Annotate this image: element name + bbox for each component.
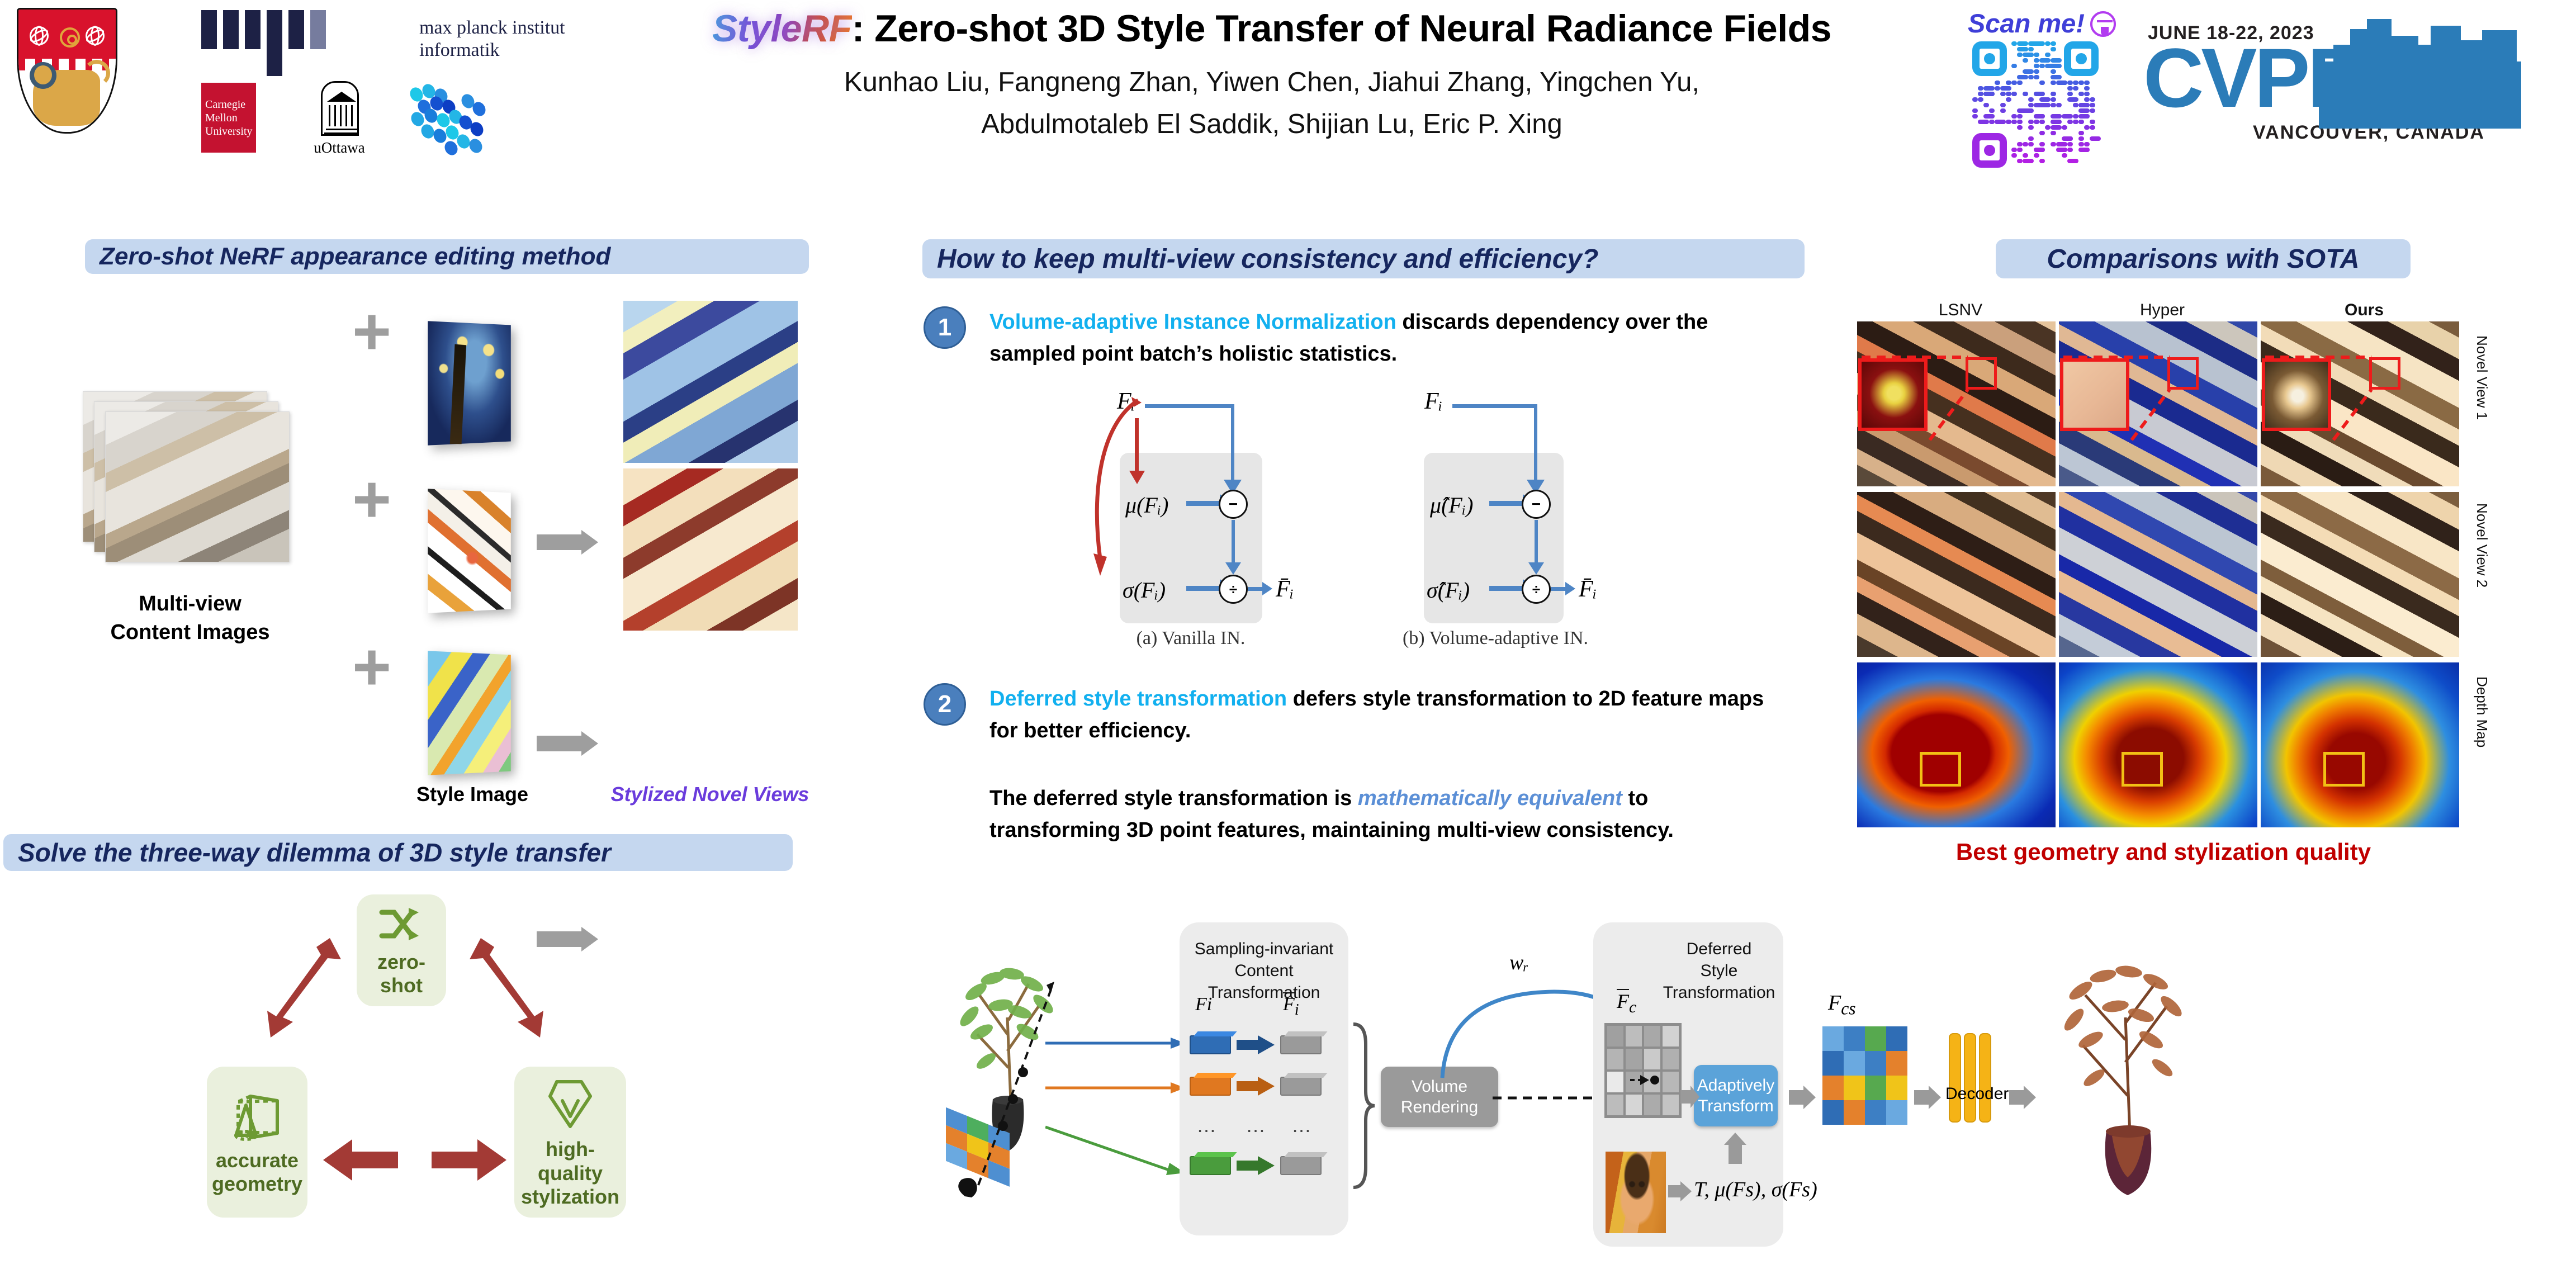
vanilla-line-down: [1231, 404, 1234, 480]
fc-grid-cell: [1643, 1093, 1661, 1116]
adaptive-minus-op: −: [1522, 490, 1551, 519]
grouping-brace: [1350, 1022, 1377, 1190]
qr-module: [2062, 125, 2067, 130]
qr-module: [2039, 114, 2045, 119]
box2-title-line2: Style: [1655, 960, 1783, 982]
dilemma-node-zero-shot: zero-shot: [357, 894, 446, 1006]
shuffle-icon: [377, 903, 425, 944]
adaptive-line-sigma: [1489, 586, 1524, 591]
stylized-plant-output: [2046, 928, 2231, 1247]
qr-module: [2011, 153, 2017, 158]
zoom-connector-dashed: [2262, 355, 2396, 447]
stylized-output-row1: [623, 301, 798, 463]
poster-header: max planck institut informatik Carnegie …: [0, 0, 2576, 224]
qr-module: [2034, 41, 2045, 46]
style-to-stats-arrow: [1668, 1181, 1693, 1203]
qr-module: [2011, 92, 2017, 96]
vanilla-arrowhead-3: [1225, 562, 1241, 575]
qr-module: [2090, 108, 2095, 113]
styl-line1: high-quality: [514, 1138, 626, 1185]
mpi-informatik-logo: max planck institut informatik: [201, 10, 626, 80]
qr-module: [1978, 97, 1983, 102]
qr-module: [2039, 131, 2045, 135]
qr-module: [2017, 148, 2023, 152]
qr-module: [2078, 80, 2084, 85]
qr-finder-pattern: [1972, 41, 2007, 76]
qr-module: [2034, 64, 2039, 68]
fcs-grid-cell: [1865, 1100, 1886, 1125]
vanilla-line-out: [1248, 587, 1263, 591]
comparison-conclusion: Best geometry and stylization quality: [1856, 839, 2471, 865]
box2-title-line1: Deferred: [1655, 938, 1783, 960]
qr-module: [1983, 103, 1989, 107]
qr-module: [2006, 80, 2011, 85]
fc-grid-cell: [1625, 1048, 1643, 1071]
qr-module: [2078, 92, 2084, 96]
qr-module: [2039, 97, 2051, 102]
skyline-building: [2501, 61, 2521, 129]
fcs-grid-cell: [1822, 1100, 1844, 1125]
cube-arrow-orange: [1237, 1076, 1276, 1097]
uottawa-logo: uOttawa: [297, 81, 381, 157]
qr-module: [2039, 120, 2045, 124]
adaptive-line-mu: [1489, 501, 1524, 506]
qr-module: [1983, 86, 1995, 91]
qr-module: [1995, 80, 2000, 85]
vancouver-skyline-icon: [2319, 17, 2520, 129]
qr-module: [1989, 114, 1995, 119]
plus-icon-row2: +: [352, 472, 391, 526]
stylized-output-row3: [623, 636, 798, 798]
qr-module: [2084, 80, 2090, 85]
qr-module: [1972, 97, 1978, 102]
box1-fibar-label: Fi: [1283, 994, 1299, 1019]
qr-module: [2051, 92, 2056, 96]
qr-module: [2051, 120, 2062, 124]
qr-module: [2028, 75, 2034, 79]
fc-grid-cell: [1661, 1071, 1680, 1093]
qr-module: [2039, 142, 2045, 146]
figure-caption-b: (b) Volume-adaptive IN.: [1392, 628, 1599, 649]
comparison-image-cell: [2059, 492, 2257, 657]
dilemma-label-zero-shot: zero-shot: [357, 950, 446, 998]
qr-module: [2067, 120, 2073, 124]
style-image-row3: [428, 651, 511, 775]
title-block: StyleRF: Zero-shot 3D Style Transfer of …: [615, 7, 1929, 144]
qr-module: [1978, 86, 1983, 91]
plus-icon-row1: +: [352, 305, 391, 358]
qr-module: [2028, 47, 2034, 51]
qr-module: [2073, 103, 2078, 107]
bullet-number-1: 1: [924, 306, 966, 349]
qr-module: [2023, 159, 2034, 163]
fcs-grid-cell: [1844, 1026, 1865, 1051]
qr-module: [2028, 103, 2034, 107]
qr-module: [1978, 92, 1983, 96]
cube-arrow-blue: [1237, 1034, 1276, 1055]
qr-module: [2084, 92, 2090, 96]
depth-region-box: [2122, 752, 2163, 787]
qr-module: [2039, 58, 2051, 63]
adaptive-divide-op: ÷: [1522, 575, 1551, 604]
adaptive-line-down: [1534, 404, 1537, 480]
qr-module: [2000, 120, 2006, 124]
qr-module: [2006, 92, 2011, 96]
qr-module: [2067, 97, 2078, 102]
fcs-grid-cell: [1865, 1076, 1886, 1100]
qr-code[interactable]: [1972, 41, 2099, 168]
qr-module: [2067, 136, 2073, 141]
qr-module: [2067, 86, 2073, 91]
vanilla-line-top: [1145, 404, 1234, 408]
qr-module: [2000, 108, 2006, 113]
qr-module: [2023, 92, 2028, 96]
comparison-image-cell: [2261, 492, 2459, 657]
fc-grid-cell: [1606, 1025, 1625, 1048]
dilemma-label-high-quality-stylization: high-quality stylization: [514, 1138, 626, 1209]
qr-module: [1989, 120, 1995, 124]
qr-module: [2017, 80, 2023, 85]
dilemma-arrow-bottom: [320, 1135, 510, 1185]
qr-module: [2073, 86, 2078, 91]
style-stats-label: T, μ(Fs), σ(Fs): [1694, 1177, 1817, 1202]
qr-module: [1989, 92, 1995, 96]
fc-grid-cell: [1643, 1048, 1661, 1071]
equiv-part1: The deferred style transformation is: [989, 787, 1358, 810]
sampled-ray-point-marker: [1632, 1069, 1660, 1093]
qr-module: [2000, 103, 2006, 107]
adaptive-line-out: [1551, 587, 1566, 591]
adaptively-transform-button[interactable]: Adaptively Transform: [1694, 1065, 1778, 1126]
fc-to-transform-arrow: [1680, 1085, 1701, 1109]
comparison-row-label-novel-view-2: Novel View 2: [2473, 503, 2490, 588]
style-stats-up-arrow: [1723, 1131, 1748, 1165]
comparison-image-cell: [1857, 662, 2056, 827]
content-caption-line1: Multi-view: [67, 590, 313, 618]
section-header-three-way-dilemma: Solve the three-way dilemma of 3D style …: [3, 834, 793, 871]
qr-module: [2034, 153, 2039, 158]
qr-module: [2062, 148, 2067, 152]
mpi-line1: max planck institut: [419, 17, 565, 39]
section-header-comparisons-sota: Comparisons with SOTA: [1996, 239, 2411, 278]
fcs-grid-cell: [1822, 1076, 1844, 1100]
authors-line-2: Abdulmotaleb El Saddik, Shijian Lu, Eric…: [615, 105, 1929, 144]
qr-module: [2039, 159, 2045, 163]
qr-module: [2062, 142, 2067, 146]
qr-module: [2051, 142, 2056, 146]
content-caption-line2: Content Images: [67, 618, 313, 647]
qr-module: [2034, 120, 2039, 124]
ellipsis-2: …: [1246, 1114, 1266, 1137]
comparison-col-header-ours: Ours: [2261, 301, 2468, 320]
zoom-connector-dashed: [1858, 355, 1992, 447]
adaptively-transform-line1: Adaptively: [1697, 1075, 1774, 1096]
vanilla-line-mu: [1186, 501, 1221, 506]
qr-module: [2090, 120, 2095, 124]
qr-module: [2084, 148, 2090, 152]
fcs-label: Fcs: [1828, 991, 1856, 1019]
vanilla-arrowhead-5: [1262, 582, 1272, 595]
adaptive-line-mid: [1535, 520, 1538, 563]
qr-module: [2034, 53, 2039, 57]
style-image-row2: [428, 489, 511, 613]
qr-module: [2078, 142, 2084, 146]
qr-module: [2062, 80, 2067, 85]
uottawa-label: uOttawa: [297, 139, 381, 157]
vanilla-minus-op: −: [1219, 490, 1248, 519]
fcs-grid-cell: [1865, 1051, 1886, 1076]
qr-module: [2067, 92, 2073, 96]
qr-module: [2078, 131, 2084, 135]
qr-module: [2017, 75, 2028, 79]
box1-title-line1: Sampling-invariant: [1180, 938, 1348, 960]
qr-module: [2023, 69, 2034, 74]
qr-module: [2017, 53, 2023, 57]
content-images-caption: Multi-view Content Images: [67, 590, 313, 647]
depth-region-box: [2323, 752, 2365, 787]
mpi-line2: informatik: [419, 39, 565, 61]
qr-finder-pattern: [2064, 41, 2099, 76]
adaptive-sigma: σ̂(Fᵢ): [1427, 577, 1470, 603]
equiv-emph: mathematically equivalent: [1358, 787, 1622, 810]
box1-title-line2: Content: [1180, 960, 1348, 982]
qr-module: [2051, 97, 2056, 102]
arrow-icon-row1: [537, 525, 598, 559]
qr-module: [2017, 159, 2023, 163]
comparison-col-header-lsnv: LSNV: [1857, 301, 2064, 320]
qr-module: [2078, 136, 2084, 141]
fcs-grid-cell: [1822, 1026, 1844, 1051]
vanilla-divide-op: ÷: [1219, 575, 1248, 604]
fcs-grid-cell: [1886, 1051, 1907, 1076]
box1-fi-label: Fi: [1195, 994, 1212, 1015]
comparison-image-cell: [2059, 662, 2257, 827]
qr-module: [2011, 64, 2017, 68]
qr-module: [2045, 41, 2051, 46]
decoder-label: Decoder: [1945, 1085, 2002, 1104]
qr-module: [1972, 108, 1978, 113]
qr-module: [2034, 75, 2039, 79]
geom-line2: geometry: [212, 1172, 302, 1196]
qr-module: [2090, 97, 2095, 102]
qr-module: [2073, 120, 2078, 124]
qr-module: [2084, 142, 2090, 146]
qr-module: [2051, 58, 2062, 63]
qr-module: [2011, 114, 2017, 119]
tongue-emoji-icon: [2090, 11, 2116, 37]
depth-region-box: [1920, 752, 1961, 787]
qr-module: [2067, 80, 2073, 85]
qr-module: [2028, 136, 2034, 141]
qr-module: [2051, 131, 2056, 135]
qr-module: [2023, 108, 2034, 113]
qr-module: [2023, 153, 2028, 158]
decoder-block: [1949, 1033, 1991, 1123]
point-1-highlight: Volume-adaptive Instance Normalization: [989, 310, 1396, 334]
cmu-logo: Carnegie Mellon University: [201, 83, 256, 153]
comparison-row-label-novel-view-1: Novel View 1: [2473, 335, 2490, 420]
qr-module: [2006, 86, 2011, 91]
qr-module: [2023, 47, 2028, 51]
qr-module: [2067, 159, 2078, 163]
qr-module: [2011, 120, 2017, 124]
fc-grid-cell: [1643, 1025, 1661, 1048]
fc-label: Fc: [1617, 989, 1636, 1017]
qr-module: [2078, 120, 2084, 124]
adaptive-arrowhead-5: [1565, 582, 1575, 595]
fcs-grid-cell: [1844, 1100, 1865, 1125]
section-header-zero-shot-editing: Zero-shot NeRF appearance editing method: [85, 239, 809, 274]
dilemma-node-high-quality-stylization: high-quality stylization: [514, 1067, 626, 1218]
scan-me-label: Scan me!: [1968, 8, 2116, 39]
point-1-text: Volume-adaptive Instance Normalization d…: [989, 306, 1772, 370]
fc-grid-cell: [1606, 1071, 1625, 1093]
fcs-grid-cell: [1865, 1026, 1886, 1051]
qr-module: [2006, 97, 2011, 102]
geom-line1: accurate: [212, 1149, 302, 1172]
qr-module: [2039, 103, 2051, 107]
authors-line-1: Kunhao Liu, Fangneng Zhan, Yiwen Chen, J…: [615, 63, 1929, 102]
qr-module: [2034, 58, 2039, 63]
vanilla-red-down: [1135, 418, 1139, 472]
qr-module: [2017, 120, 2023, 124]
fc-grid-cell: [1625, 1093, 1643, 1116]
fcs-to-decoder-arrow: [1914, 1085, 1942, 1110]
style-image-row1: [428, 321, 511, 445]
fcs-feature-grid: [1822, 1026, 1907, 1125]
decoder-to-output-arrow: [2009, 1085, 2037, 1110]
qr-module: [2011, 148, 2017, 152]
scan-me-text: Scan me!: [1968, 8, 2085, 38]
qr-module: [2051, 64, 2062, 68]
feature-cube-green: [1190, 1156, 1231, 1175]
fc-grid-cell: [1661, 1093, 1680, 1116]
qr-module: [2000, 92, 2006, 96]
qr-module: [1972, 114, 1978, 119]
qr-module: [2078, 108, 2090, 113]
feature-cube-grey-1: [1280, 1035, 1322, 1054]
fc-grid-cell: [1606, 1048, 1625, 1071]
adaptive-in-input: Fᵢ: [1424, 388, 1442, 415]
qr-module: [2017, 125, 2023, 130]
fc-grid-cell: [1661, 1025, 1680, 1048]
qr-module: [2090, 136, 2101, 141]
stylized-views-caption: Stylized Novel Views: [604, 783, 816, 806]
point-2-text: Deferred style transformation defers sty…: [989, 683, 1767, 747]
qr-module: [2067, 142, 2073, 146]
qr-module: [2039, 148, 2045, 152]
plus-icon-row3: +: [352, 640, 391, 694]
arrow-icon-row2: [537, 727, 598, 760]
qr-module: [2023, 58, 2028, 63]
style-image-caption: Style Image: [391, 783, 553, 806]
qr-module: [2051, 69, 2056, 74]
feature-cube-orange: [1190, 1077, 1231, 1096]
vanilla-line-sigma: [1186, 586, 1221, 591]
qr-module: [2028, 53, 2034, 57]
qr-module: [1978, 120, 1989, 124]
qr-module: [2017, 142, 2023, 146]
qr-module: [2011, 80, 2017, 85]
box2-title-line3: Transformation: [1655, 982, 1783, 1003]
qr-module: [2090, 125, 2095, 130]
qr-module: [2051, 80, 2056, 85]
qr-module: [2028, 125, 2034, 130]
adaptive-mu: μ̂(Fᵢ): [1430, 492, 1473, 518]
qr-module: [2051, 103, 2056, 107]
qr-module: [2028, 97, 2034, 102]
fc-grid-cell: [1606, 1093, 1625, 1116]
qr-module: [2028, 120, 2034, 124]
volume-rendering-line2: Rendering: [1401, 1097, 1478, 1118]
qr-module: [2023, 142, 2028, 146]
qr-module: [2056, 114, 2062, 119]
qr-module: [2051, 47, 2056, 51]
qr-module: [2034, 69, 2039, 74]
comparison-image-cell: [1857, 492, 2056, 657]
qr-module: [1995, 86, 2000, 91]
comparison-col-header-hyper: Hyper: [2059, 301, 2266, 320]
ellipsis-3: …: [1291, 1114, 1311, 1137]
feature-cube-grey-3: [1280, 1156, 1322, 1175]
comparison-image-cell: [2261, 662, 2459, 827]
fcs-grid-cell: [1886, 1100, 1907, 1125]
equivalence-note: The deferred style transformation is mat…: [989, 783, 1772, 846]
style-reference-picasso: [1606, 1152, 1666, 1233]
figure-caption-a: (a) Vanilla IN.: [1112, 628, 1269, 649]
comparison-row-label-depth-map: Depth Map: [2473, 676, 2490, 747]
fc-grid-cell: [1661, 1048, 1680, 1071]
qr-module: [1989, 108, 1995, 113]
cmu-line3: University: [205, 125, 256, 138]
qr-module: [2062, 114, 2073, 119]
vanilla-line-mid: [1232, 520, 1235, 563]
fcs-grid-cell: [1844, 1076, 1865, 1100]
dilemma-arrow-right: [464, 934, 565, 1045]
dilemma-node-accurate-geometry: accurate geometry: [207, 1067, 307, 1218]
dilemma-label-accurate-geometry: accurate geometry: [212, 1149, 302, 1196]
fcs-grid-cell: [1844, 1051, 1865, 1076]
qr-module: [2039, 64, 2045, 68]
cmu-line1: Carnegie: [205, 98, 256, 111]
qr-module: [2067, 148, 2073, 152]
qr-module: [2062, 153, 2067, 158]
stylized-output-row2: [623, 468, 798, 631]
fc-grid-cell: [1625, 1025, 1643, 1048]
box2-title: Deferred Style Transformation: [1655, 938, 1783, 1003]
qr-module: [2011, 41, 2017, 46]
fcs-grid-cell: [1886, 1026, 1907, 1051]
point-2-highlight: Deferred style transformation: [989, 687, 1287, 711]
adaptive-line-top: [1452, 404, 1537, 408]
ellipsis-1: …: [1196, 1114, 1216, 1137]
qr-module: [2006, 120, 2011, 124]
page-title-rest: : Zero-shot 3D Style Transfer of Neural …: [852, 7, 1831, 50]
cube-arrow-green: [1237, 1155, 1276, 1176]
section-header-consistency-efficiency: How to keep multi-view consistency and e…: [922, 239, 1805, 278]
saarland-crest-logo: [17, 8, 117, 134]
qr-module: [2056, 103, 2062, 107]
qr-module: [2090, 103, 2095, 107]
qr-module: [2017, 41, 2028, 46]
fcs-grid-cell: [1886, 1076, 1907, 1100]
adaptively-transform-line2: Transform: [1697, 1096, 1774, 1117]
qr-module: [2045, 53, 2051, 57]
qr-module: [2039, 80, 2045, 85]
qr-module: [2073, 80, 2078, 85]
qr-module: [2034, 92, 2045, 96]
qr-module: [2084, 86, 2090, 91]
